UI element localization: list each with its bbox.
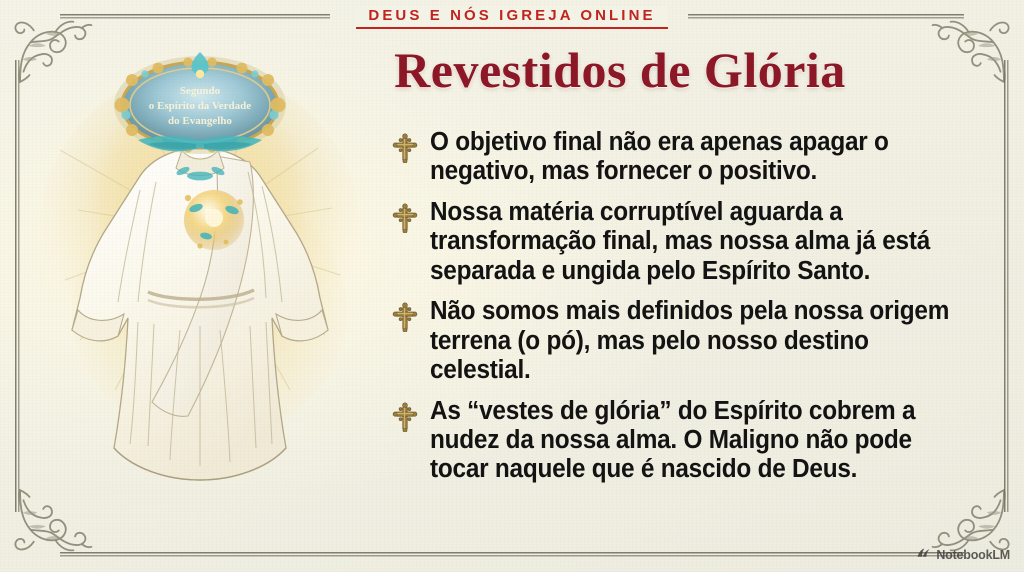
frame-line-right <box>1004 60 1009 512</box>
page-title: Revestidos de Glória <box>270 44 970 97</box>
list-item: Não somos mais definidos pela nossa orig… <box>392 297 992 385</box>
header-kicker: DEUS E NÓS IGREJA ONLINE <box>0 7 1024 29</box>
list-item-text: O objetivo final não era apenas apagar o… <box>430 128 967 187</box>
header-kicker-text: DEUS E NÓS IGREJA ONLINE <box>356 7 667 29</box>
notebooklm-watermark: NotebookLM <box>916 546 1010 564</box>
ornate-cross-icon <box>392 302 418 332</box>
ornate-cross-icon <box>392 203 418 233</box>
list-item-text: Nossa matéria corruptível aguarda a tran… <box>430 198 967 286</box>
list-item-text: As “vestes de glória” do Espírito cobrem… <box>430 397 967 485</box>
ornate-cross-icon <box>392 133 418 163</box>
list-item: As “vestes de glória” do Espírito cobrem… <box>392 397 992 485</box>
notebooklm-label: NotebookLM <box>936 548 1010 562</box>
notebooklm-icon <box>916 546 931 564</box>
bullet-list: O objetivo final não era apenas apagar o… <box>392 128 992 496</box>
list-item: Nossa matéria corruptível aguarda a tran… <box>392 198 992 286</box>
list-item: O objetivo final não era apenas apagar o… <box>392 128 992 187</box>
emblem-text-line3: do Evangelho <box>168 115 232 127</box>
slide-canvas: DEUS E NÓS IGREJA ONLINE Revestidos de G… <box>0 0 1024 572</box>
list-item-text: Não somos mais definidos pela nossa orig… <box>430 297 967 385</box>
emblem-text-line1: Segundo <box>180 85 221 97</box>
illustration-robed-figure: Segundo o Espírito da Verdade do Evangel… <box>20 30 380 540</box>
frame-line-bottom <box>60 552 964 557</box>
ornate-cross-icon <box>392 402 418 432</box>
emblem-text-line2: o Espírito da Verdade <box>149 100 251 112</box>
